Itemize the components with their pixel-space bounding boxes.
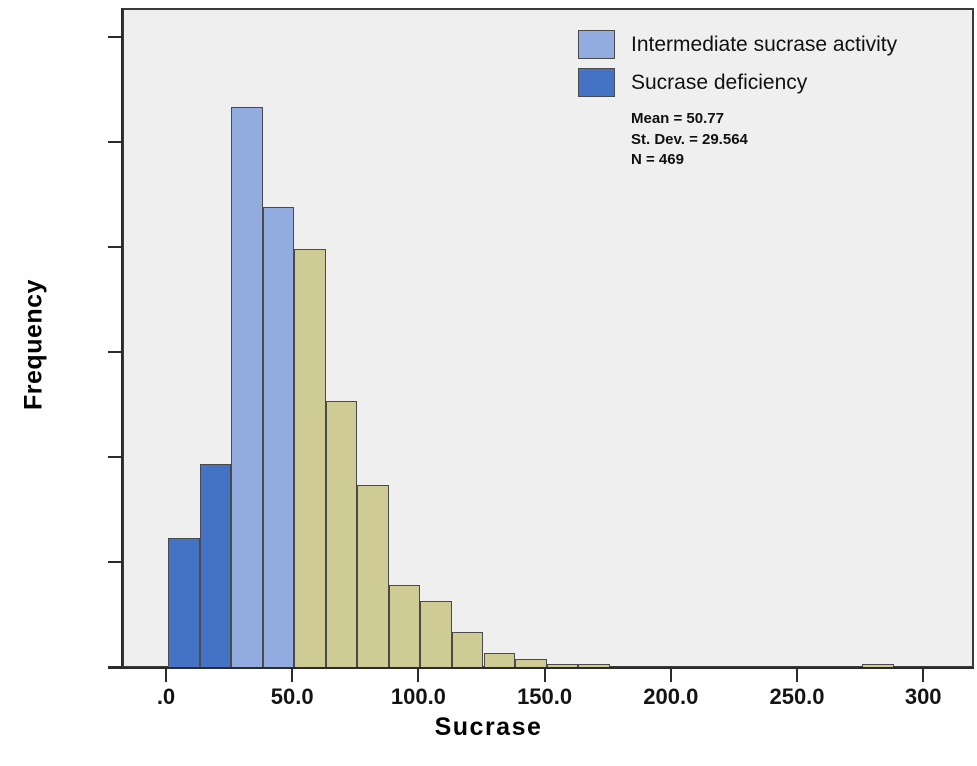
x-tick-mark bbox=[417, 669, 419, 682]
x-tick-mark bbox=[796, 669, 798, 682]
y-tick-mark bbox=[108, 666, 121, 668]
legend-swatch-deficiency bbox=[578, 68, 615, 97]
stat-stdev: St. Dev. = 29.564 bbox=[631, 130, 948, 151]
legend-statistics: Mean = 50.77 St. Dev. = 29.564 N = 469 bbox=[631, 109, 948, 171]
x-tick-label: 50.0 bbox=[271, 684, 314, 710]
legend-entry-intermediate: Intermediate sucrase activity bbox=[578, 30, 948, 59]
histogram-bar bbox=[452, 632, 484, 669]
y-tick-mark bbox=[108, 246, 121, 248]
legend-entry-deficiency: Sucrase deficiency bbox=[578, 68, 948, 97]
x-axis-title: Sucrase bbox=[0, 713, 977, 742]
y-tick-mark bbox=[108, 456, 121, 458]
histogram-bar bbox=[357, 485, 389, 669]
legend-label-intermediate: Intermediate sucrase activity bbox=[631, 33, 897, 57]
histogram-bar bbox=[263, 207, 295, 669]
y-tick-mark bbox=[108, 351, 121, 353]
legend-swatch-intermediate bbox=[578, 30, 615, 59]
x-tick-mark bbox=[670, 669, 672, 682]
x-tick-mark bbox=[544, 669, 546, 682]
x-tick-label: 200.0 bbox=[643, 684, 698, 710]
stat-mean: Mean = 50.77 bbox=[631, 109, 948, 130]
stat-n: N = 469 bbox=[631, 150, 948, 171]
x-tick-label: 100.0 bbox=[391, 684, 446, 710]
y-axis-title: Frequency bbox=[20, 225, 49, 465]
x-tick-label: 300 bbox=[905, 684, 942, 710]
x-tick-label: .0 bbox=[157, 684, 175, 710]
legend: Intermediate sucrase activity Sucrase de… bbox=[578, 30, 948, 171]
histogram-bar bbox=[294, 249, 326, 669]
y-axis-line bbox=[121, 8, 123, 668]
y-tick-mark bbox=[108, 561, 121, 563]
histogram-bar bbox=[168, 538, 200, 669]
histogram-figure: 020406080100120 .050.0100.0150.0200.0250… bbox=[0, 0, 977, 766]
histogram-bar bbox=[389, 585, 421, 669]
histogram-bar bbox=[200, 464, 232, 669]
x-tick-mark bbox=[291, 669, 293, 682]
x-tick-mark bbox=[165, 669, 167, 682]
x-tick-mark bbox=[922, 669, 924, 682]
y-tick-mark bbox=[108, 141, 121, 143]
histogram-bar bbox=[231, 107, 263, 669]
x-axis-line bbox=[108, 667, 974, 669]
legend-label-deficiency: Sucrase deficiency bbox=[631, 71, 807, 95]
histogram-bar bbox=[326, 401, 358, 669]
x-tick-label: 150.0 bbox=[517, 684, 572, 710]
y-tick-mark bbox=[108, 36, 121, 38]
histogram-bar bbox=[420, 601, 452, 669]
x-tick-label: 250.0 bbox=[769, 684, 824, 710]
